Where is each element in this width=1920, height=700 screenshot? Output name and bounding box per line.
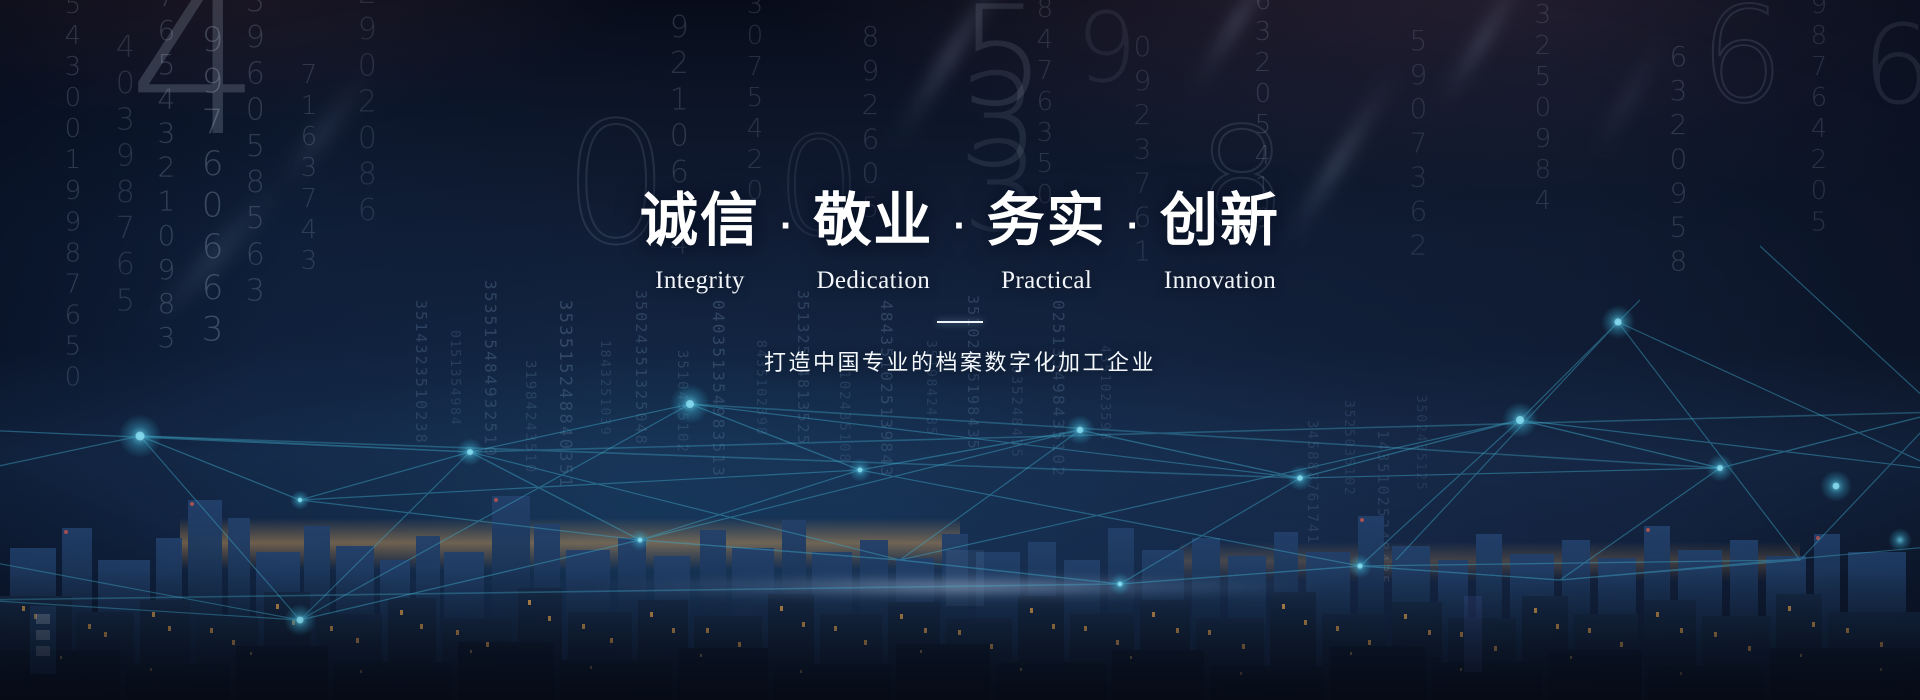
headline-value-cn: 创新 bbox=[1160, 190, 1280, 253]
headline-separator: · bbox=[933, 206, 986, 246]
headline-separator: · bbox=[1107, 206, 1160, 246]
headline-separator: · bbox=[760, 206, 813, 246]
tagline-text: 打造中国专业的档案数字化加工企业 bbox=[0, 345, 1920, 377]
headline-value-cn: 务实 bbox=[987, 190, 1107, 253]
values-banner: 5430019987650403987657654321098399760663… bbox=[0, 0, 1920, 700]
headline-value-en: Innovation bbox=[1160, 267, 1280, 295]
headline-value-cn: 敬业 bbox=[813, 190, 933, 253]
headline-value-en: Dedication bbox=[813, 267, 933, 295]
headline-value-3: 务实Practical bbox=[987, 190, 1107, 295]
banner-content: 诚信Integrity·敬业Dedication·务实Practical·创新I… bbox=[0, 190, 1920, 377]
divider-rule bbox=[937, 321, 983, 323]
headline-value-en: Practical bbox=[987, 267, 1107, 295]
headline-value-cn: 诚信 bbox=[640, 190, 760, 253]
headline-value-en: Integrity bbox=[640, 267, 760, 295]
headline-value-4: 创新Innovation bbox=[1160, 190, 1280, 295]
headline-value-2: 敬业Dedication bbox=[813, 190, 933, 295]
headline-value-1: 诚信Integrity bbox=[640, 190, 760, 295]
headline-row: 诚信Integrity·敬业Dedication·务实Practical·创新I… bbox=[0, 190, 1920, 295]
